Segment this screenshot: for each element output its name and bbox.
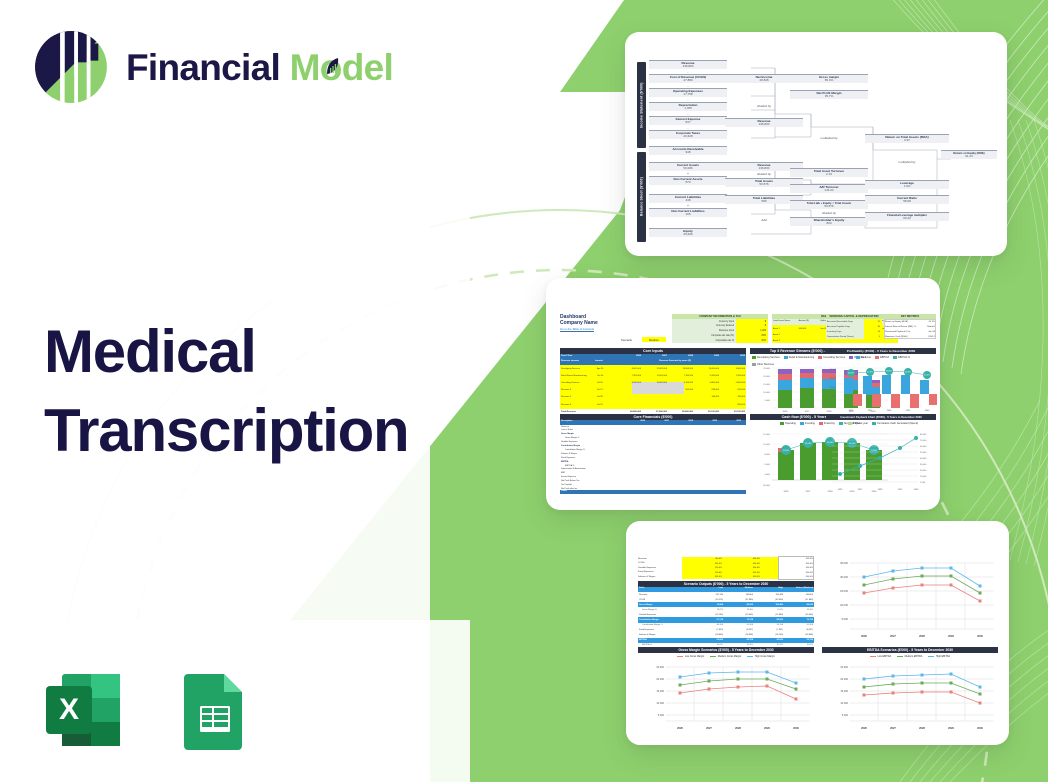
col-header: 2029 — [693, 420, 717, 422]
legend-item: Low EBITDA — [870, 655, 891, 658]
legend-label: Operating — [785, 422, 796, 425]
svg-text:5,000: 5,000 — [765, 400, 771, 402]
col-header: 2027 — [641, 355, 667, 357]
microsoft-excel-icon[interactable]: X — [38, 664, 130, 761]
col-header: 2026 — [613, 355, 641, 357]
page-title-line1: Medical — [44, 318, 256, 385]
svg-text:20,000: 20,000 — [840, 603, 848, 607]
row-value: 100.0% — [779, 575, 813, 579]
cell: 148,200 — [693, 394, 719, 401]
cell: 105,480 — [753, 604, 783, 606]
cell: 65.0% — [783, 609, 813, 611]
legend-label: High EBITDA — [936, 655, 950, 658]
svg-text:35,000: 35,000 — [830, 369, 837, 371]
legend-item: Cumulative Cash Generated (Spend) — [872, 422, 918, 425]
cell: 88,350 — [753, 619, 783, 621]
cell: 7,198,200 — [667, 373, 693, 380]
svg-text:25,000: 25,000 — [763, 368, 770, 370]
table-row: Consulting Services Jul-26 8,420,000 10,… — [561, 380, 745, 387]
svg-text:10,200: 10,200 — [805, 443, 812, 445]
col-header: 2026 — [621, 420, 645, 422]
node-value: 948 — [649, 151, 727, 155]
rail-income-statement-label: Income Statement ($'000) — [640, 82, 644, 128]
cell: Total Revenue — [561, 411, 615, 413]
cell: Revenue 6 — [561, 402, 597, 409]
svg-text:2027: 2027 — [805, 411, 811, 413]
cell: 29,100,000 — [693, 411, 719, 413]
svg-text:8,000: 8,000 — [765, 454, 771, 456]
node-value: 105 — [649, 213, 727, 217]
scenario-select[interactable]: Medium — [642, 337, 666, 342]
financial-model-circle-bars-logo — [32, 28, 110, 106]
cell: Contribution Margin — [639, 619, 693, 621]
col-header: 2027 — [645, 420, 669, 422]
cell: Contribution Margin % — [642, 624, 693, 626]
core-inputs-rows: Developing Services Apr-26 8,602,000 12,… — [561, 366, 745, 409]
svg-text:35,000: 35,000 — [840, 561, 848, 565]
node-gross-margin: Gross margin65.0% — [790, 74, 868, 83]
node-current-assets: Current Assets50,006 — [649, 162, 727, 171]
wc-values-text: 21 30 15 5 — [866, 320, 880, 340]
legend-item: High EBITDA — [928, 655, 950, 658]
node-value: 49,629 — [649, 233, 727, 237]
node-leverage: Leverage1.9% — [865, 180, 949, 189]
svg-text:10,000: 10,000 — [656, 702, 664, 705]
svg-text:2030: 2030 — [793, 726, 799, 730]
col-header: Active (Medium) — [783, 587, 813, 589]
cell: Salaries & Wages — [639, 634, 693, 636]
svg-text:2029: 2029 — [948, 726, 954, 730]
cell: 150,480 — [753, 594, 783, 596]
svg-text:2028: 2028 — [878, 489, 883, 491]
svg-text:15,000: 15,000 — [830, 387, 837, 389]
key-metrics-values: 61.2% Tbitrat% Jan-28 1,352.2 — [920, 320, 935, 340]
node-value: 50,006 — [649, 167, 727, 171]
svg-text:2030: 2030 — [925, 410, 930, 412]
svg-text:5,000: 5,000 — [842, 714, 849, 717]
col-header: Revenue streams — [561, 360, 595, 362]
node-total-liab-equity: Total Liab + Equity = Total Assets50,576 — [790, 200, 868, 209]
node-value: 65.0% — [790, 79, 868, 83]
cell: Variable Expenses — [639, 614, 693, 616]
table-row: Revenue 4 Jul-27 502,000 938,000 920,000 — [561, 387, 745, 394]
cell: 4,108,200 — [667, 380, 693, 387]
svg-text:15,000: 15,000 — [840, 690, 848, 693]
svg-text:2030: 2030 — [977, 634, 983, 638]
svg-text:2030: 2030 — [914, 489, 919, 491]
brand-name-del: del — [342, 47, 393, 88]
scenario-label: Scenario — [621, 338, 632, 342]
col-header: Description — [561, 420, 621, 422]
cell: 9,800,000 — [719, 366, 745, 373]
legend-item: Developing Services — [752, 356, 780, 359]
cell: Jul-28 — [597, 394, 615, 401]
legend-label: Cumulative Cash Generated (Spend) — [877, 422, 918, 425]
profitability-legend: Revenue EBITDA EBITDA % — [832, 356, 934, 359]
wc-labels: Accounts Receivable Days Accounts Payabl… — [827, 320, 863, 340]
svg-text:2029: 2029 — [764, 726, 770, 730]
col-header: 2029 — [693, 355, 719, 357]
dashboard-subtitle: Company Name — [560, 320, 598, 326]
cell: 88,920 — [783, 604, 813, 606]
cell: (50,274) — [693, 599, 723, 601]
cell: Gross Margin % — [642, 609, 693, 611]
cell: (7,823) — [693, 629, 723, 631]
cell: 502,000 — [667, 387, 693, 394]
cell: 59,708 — [783, 639, 813, 641]
cell: 100.0% — [722, 575, 760, 579]
svg-text:X: X — [59, 693, 79, 726]
legend-label: Medium EBITDA — [905, 655, 923, 658]
cell: 23,120,000 — [719, 411, 745, 413]
svg-text:2027: 2027 — [858, 489, 863, 491]
cell: 75,758 — [783, 619, 813, 621]
node-non-current-assets: Non Current Assets570 — [649, 176, 727, 185]
cell: 131,130 — [693, 594, 723, 596]
cell: (13,196) — [693, 614, 723, 616]
core-financials-headers: Description 2026 2027 2028 2029 2030 — [561, 420, 745, 422]
svg-text:(2,000): (2,000) — [763, 485, 770, 487]
legend-item: Operating — [780, 422, 796, 425]
legend-label: EBITDA % — [898, 356, 910, 359]
cell: 55,398 — [723, 624, 753, 626]
row-value: 1,352.2 — [920, 335, 935, 340]
cell: Gross Margin — [639, 604, 693, 606]
core-inputs-subheaders: Revenue streams Launch Revenue Forecast … — [561, 360, 745, 362]
profitability-chart: 35,00025,000 15,0005,000 46.1% 47.2% 48.… — [826, 362, 938, 412]
cell: 65.0% — [723, 609, 753, 611]
cell: Fixed Expenses — [639, 629, 693, 631]
svg-text:2027: 2027 — [868, 410, 873, 412]
dashboard-toc-link[interactable]: Go to the Table of Contents — [560, 327, 594, 331]
node-value: 537 — [649, 121, 727, 125]
cell: 67,718 — [693, 619, 723, 621]
cell: 920,000 — [719, 387, 745, 394]
panel-header-profitability: Profitability ($'000) - 5 Years to Decem… — [826, 348, 936, 354]
row-label: Corporation tax % — [674, 339, 734, 344]
cell: 10,802,000 — [641, 380, 667, 387]
cell: COGS — [639, 599, 693, 601]
cell: 75,758 — [723, 619, 753, 621]
svg-text:12,000: 12,000 — [763, 434, 770, 436]
legend-label: High Gross Margin — [755, 655, 775, 658]
cell: (7,461) — [753, 629, 783, 631]
svg-text:10,000: 10,000 — [920, 476, 927, 478]
page-title-line2: Transcription — [44, 391, 408, 470]
legend-item: Medium EBITDA — [897, 655, 922, 658]
cell: (18,149) — [753, 634, 783, 636]
cell: (8,057) — [783, 629, 813, 631]
svg-text:60,000: 60,000 — [920, 446, 927, 448]
row-label: Internal Rate of Return (IRR), % — [885, 325, 921, 330]
cell: (13,003) — [723, 614, 753, 616]
svg-text:2026: 2026 — [784, 491, 790, 493]
cell: 11,002,000 — [641, 373, 667, 380]
cell: 28,400,000 — [667, 411, 693, 413]
svg-text:2026: 2026 — [838, 489, 843, 491]
ebitda-overview-chart: 35,00030,000 25,00020,000 5,000 20262027… — [822, 555, 998, 641]
cell: Oct-26 — [597, 373, 615, 380]
ebitda-legend: Low EBITDA Medium EBITDA High EBITDA — [822, 655, 998, 658]
cell: (11,880) — [753, 614, 783, 616]
cell: 5,800,000 — [719, 380, 745, 387]
col-header: 2030 — [719, 355, 745, 357]
cell: 55,398 — [783, 624, 813, 626]
panel-header-payback: Investment Payback Chart ($'000) - 5 Yea… — [826, 414, 936, 420]
node-value: 136,800 — [725, 123, 803, 127]
core-inputs-total-row: Total Revenue 24,400,000 37,800,000 28,4… — [561, 411, 745, 413]
cell: 938,000 — [693, 387, 719, 394]
svg-text:2028: 2028 — [919, 726, 925, 730]
svg-text:2026: 2026 — [861, 726, 867, 730]
cell: 76,864 — [693, 604, 723, 606]
svg-text:40,000: 40,000 — [920, 458, 927, 460]
node-opex: Operating Expenses17,758 — [649, 88, 727, 97]
svg-text:2028: 2028 — [735, 726, 741, 730]
cell: 13,000,000 — [693, 366, 719, 373]
cell: Revenue 4 — [561, 387, 597, 394]
cell: 59,708 — [723, 639, 753, 641]
operator-divided-by: divided by — [790, 211, 868, 215]
svg-text:10,000: 10,000 — [763, 392, 770, 394]
legend-label: EBITDA — [880, 356, 889, 359]
legend-label: Low Gross Margin — [685, 655, 704, 658]
cell: 7,352,000 — [615, 373, 641, 380]
legend-item: Low Gross Margin — [677, 655, 704, 658]
cell: (8,057) — [723, 629, 753, 631]
cell: 18,908,200 — [667, 366, 693, 373]
cell: Jul-26 — [597, 380, 615, 387]
col-header: 2028 — [669, 420, 693, 422]
row-value: 30% — [738, 339, 766, 344]
row-value: 5 — [866, 335, 880, 340]
node-value: 0.97 — [865, 139, 949, 143]
col-header: Table — [639, 587, 693, 589]
core-financials-total-label: Totals — [561, 490, 567, 492]
node-current-ratio: Current Ratio58.98 — [865, 195, 949, 204]
table-row: Revenue 6 Jul-29 820,000 — [561, 402, 745, 409]
cell: Developing Services — [561, 366, 597, 373]
col-header: Loan/Lease Name — [773, 320, 799, 322]
cell: 5,200,000 — [693, 373, 719, 380]
col-header: 2028 — [667, 355, 693, 357]
cell: (45,000) — [753, 599, 783, 601]
node-non-current-liabilities: Non Current Liabilities105 — [649, 208, 727, 217]
node-value: 58.98 — [865, 200, 949, 204]
cell: 52,005 — [693, 639, 723, 641]
rail-balance-sheet: Balance Sheet ($'000) — [637, 152, 646, 242]
cell: 6,800,000 — [693, 380, 719, 387]
gross-margin-legend: Low Gross Margin Medium Gross Margin Hig… — [638, 655, 814, 658]
svg-text:5,000: 5,000 — [658, 714, 665, 717]
row-label: Maximum Cash ($'000) — [885, 335, 921, 340]
cell: (47,880) — [783, 599, 813, 601]
svg-text:2027: 2027 — [806, 491, 812, 493]
svg-text:2029: 2029 — [898, 489, 903, 491]
cell: 88,920 — [723, 604, 753, 606]
cell: Jul-27 — [597, 387, 615, 394]
node-depreciation: Depreciation1,785 — [649, 102, 727, 111]
svg-text:1,000: 1,000 — [920, 482, 926, 484]
cell: Consulting Services — [561, 380, 597, 387]
node-value: 448 — [649, 199, 727, 203]
node-current-liabilities: Current Liabilities448 — [649, 194, 727, 203]
svg-text:2030: 2030 — [977, 726, 983, 730]
payback-legend: Payback year Cumulative Cash Generated (… — [832, 422, 934, 425]
legend-label: Payback year — [853, 422, 868, 425]
svg-text:6,000: 6,000 — [765, 464, 771, 466]
cell: 70.1% — [753, 609, 783, 611]
node-financial-leverage-multiplier: Financial Leverage multiplier63.22 — [865, 212, 949, 221]
rail-income-statement: Income Statement ($'000) — [637, 62, 646, 148]
legend-item: Payback year — [848, 422, 868, 425]
panel-header-ebitda-scenarios: EBITDA Scenarios ($'000) - 5 Years to De… — [822, 647, 998, 653]
node-value: 1.9% — [865, 185, 949, 189]
legend-label: Revenue — [861, 356, 871, 359]
core-financials-rows: Revenue Cost of Sales Gross Margin Gross… — [561, 426, 745, 492]
cell: Apr-26 — [597, 366, 615, 373]
svg-text:2028: 2028 — [919, 634, 925, 638]
node-return-on-total-assets: Return on Total Assets (ROA)0.97 — [865, 134, 949, 143]
node-value: 20,628 — [649, 135, 727, 139]
svg-text:5,000: 5,000 — [842, 617, 849, 621]
cell: Jul-29 — [597, 402, 615, 409]
node-cogs: Cost of Revenue (COGS)47,880 — [649, 74, 727, 83]
node-equity: Equity49,629 — [649, 228, 727, 237]
svg-text:25,000: 25,000 — [840, 589, 848, 593]
cell: 136,800 — [783, 594, 813, 596]
legend-label: Low EBITDA — [877, 655, 891, 658]
node-value: 2.70 — [790, 173, 868, 177]
node-revenue-mid: Revenue136,800 — [725, 118, 803, 127]
legend-item: High Gross Margin — [747, 655, 774, 658]
company-info-values-text: $ $ 1,000 25% 30% — [738, 320, 766, 344]
legend-item: Medium Gross Margin — [710, 655, 741, 658]
col-header: 2030 — [717, 420, 741, 422]
svg-text:30,000: 30,000 — [840, 575, 848, 579]
legend-label: Developing Services — [757, 356, 780, 359]
svg-text:25,000: 25,000 — [840, 666, 848, 669]
payback-chart: 80,00070,000 60,00050,000 40,00030,000 2… — [826, 428, 938, 494]
cell: (18,898) — [783, 634, 813, 636]
ebitda-scenarios-chart: 25,00020,000 15,00010,000 5,000 20262027… — [822, 661, 998, 731]
node-return-on-equity: Return on Equity (ROE)61.23 — [941, 150, 997, 159]
node-value: 570 — [649, 181, 727, 185]
col-header: Launch — [595, 360, 615, 362]
rail-balance-sheet-label: Balance Sheet ($'000) — [640, 178, 644, 217]
operator-divided-by: divided by — [725, 104, 803, 108]
legend-item: EBITDA — [875, 356, 889, 359]
node-value: 17,758 — [649, 93, 727, 97]
svg-text:47.2%: 47.2% — [867, 372, 873, 374]
company-info-labels: Currency Input Currency Entered Revenue … — [674, 320, 734, 344]
cell: (18,898) — [723, 634, 753, 636]
cell: 37,800,000 — [641, 411, 667, 413]
brand-name-financial: Financial — [126, 47, 290, 88]
svg-text:5,000: 5,000 — [831, 396, 837, 398]
svg-text:43.5%: 43.5% — [924, 375, 930, 377]
google-sheets-icon[interactable] — [168, 664, 260, 761]
legend-label: Medium Gross Margin — [718, 655, 742, 658]
cell: 189,000 — [719, 394, 745, 401]
node-value: 136,800 — [649, 65, 727, 69]
svg-text:8,100: 8,100 — [783, 450, 789, 452]
col-header: High — [753, 587, 783, 589]
cell: 8,602,000 — [615, 366, 641, 373]
node-shareholders-equity: Shareholder's Equity800 — [790, 217, 868, 226]
col-header: Revenue Forecast by years ($) — [615, 360, 735, 362]
legend-item: EBITDA % — [893, 356, 910, 359]
cell: 48,196 — [693, 624, 723, 626]
svg-text:15,000: 15,000 — [763, 384, 770, 386]
svg-text:2029: 2029 — [906, 410, 911, 412]
node-ar-turnover: A/R Turnover144.24 — [790, 184, 868, 193]
node-value: 144.24 — [790, 189, 868, 193]
node-value: 50,576 — [790, 205, 868, 209]
operator-multiplied-by: multiplied by — [867, 160, 947, 164]
node-corporate-taxes: Corporate Taxes20,628 — [649, 130, 727, 139]
col-header: Amount ($) — [799, 320, 821, 322]
node-total-asset-turnover: Total Asset Turnover2.70 — [790, 168, 868, 177]
legend-item: Revenue — [856, 356, 871, 359]
col-header: Medium — [723, 587, 753, 589]
svg-text:2027: 2027 — [890, 726, 896, 730]
legend-label: Retail & Manufacturing — [789, 356, 814, 359]
svg-text:46.8%: 46.8% — [905, 372, 911, 374]
svg-text:4,000: 4,000 — [765, 474, 771, 476]
page-title: Medical Transcription — [44, 312, 408, 470]
cell: 12,802,000 — [641, 366, 667, 373]
cell: 59,198 — [753, 624, 783, 626]
cell: Asset 3 — [773, 338, 799, 344]
cell: 8,420,000 — [615, 380, 641, 387]
cell: 65,630 — [753, 639, 783, 641]
table-row: Revenue 5 Jul-28 148,200 189,000 — [561, 394, 745, 401]
table-row: Developing Services Apr-26 8,602,000 12,… — [561, 366, 745, 373]
cell: Retail Stores Manufacturing — [561, 373, 597, 380]
dashboard-card-right-column: WORKING CAPITAL & DEPRECIATION KEY METRI… — [826, 278, 940, 510]
node-accounts-receivable: Accounts Receivable948 — [649, 146, 727, 155]
svg-text:25,000: 25,000 — [830, 378, 837, 380]
operator-multiplied-by: multiplied by — [790, 136, 868, 140]
svg-text:80,000: 80,000 — [920, 434, 927, 436]
node-value: 800 — [790, 222, 868, 226]
node-net-profit-margin: Net Profit Margin35.7% — [790, 90, 868, 99]
slide-root: Financial M o del Medical Transcription — [0, 0, 1048, 782]
svg-text:2027: 2027 — [706, 726, 712, 730]
cell: 58.7% — [693, 609, 723, 611]
dupont-analysis-card[interactable]: Income Statement ($'000) Balance Sheet (… — [625, 32, 1007, 256]
brand-name-o: o — [320, 49, 342, 86]
svg-text:10,000: 10,000 — [763, 444, 770, 446]
file-format-icons: X — [38, 664, 260, 761]
node-value: 1,785 — [649, 107, 727, 111]
cell: 105.0% — [684, 575, 722, 579]
scenario-outputs-card[interactable]: Revenue COGS Variable Expenses Fixed Exp… — [626, 521, 1009, 745]
svg-text:20,000: 20,000 — [763, 376, 770, 378]
node-value: 61.23 — [941, 155, 997, 159]
node-value: 63.22 — [865, 217, 949, 221]
panel-header-gross-margin-scenarios: Gross Margin Scenarios ($'000) - 5 Years… — [638, 647, 814, 653]
brand-name-m: M — [290, 47, 320, 88]
col-header: Fixed Time — [561, 355, 613, 357]
svg-text:2028: 2028 — [887, 410, 892, 412]
svg-text:48.0%: 48.0% — [886, 371, 892, 373]
node-revenue: Revenue136,800 — [649, 60, 727, 69]
svg-text:20,000: 20,000 — [920, 470, 927, 472]
cell: EBITDA — [639, 639, 693, 641]
scenario-active-values: 100.0% 100.0% 100.0% 100.0% 100.0% — [779, 557, 813, 579]
